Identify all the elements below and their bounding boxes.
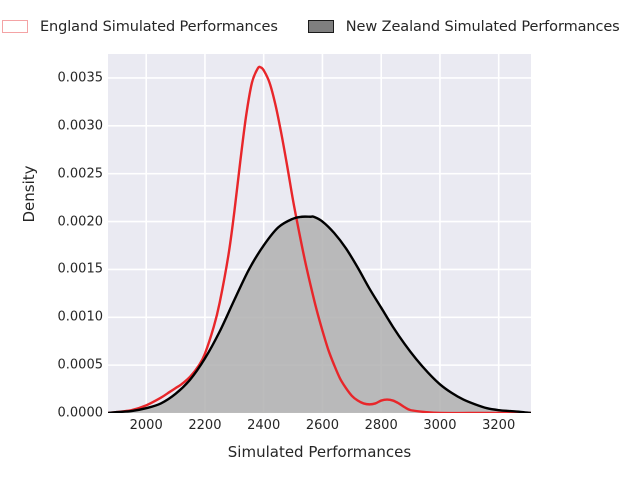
y-tick-label: 0.0030 (23, 118, 103, 133)
y-tick-label: 0.0000 (23, 406, 103, 421)
y-tick-label: 0.0005 (23, 358, 103, 373)
legend-item-newzealand: New Zealand Simulated Performances (308, 13, 620, 39)
plot-area (108, 54, 531, 413)
y-tick-label: 0.0010 (23, 310, 103, 325)
legend-item-england: England Simulated Performances (2, 13, 278, 39)
y-tick-label: 0.0020 (23, 214, 103, 229)
legend-label-england: England Simulated Performances (40, 14, 278, 40)
series-fill-1 (108, 216, 531, 413)
x-axis-label: Simulated Performances (108, 443, 531, 461)
x-tick-label: 3200 (464, 418, 534, 433)
series-fills (108, 216, 531, 413)
legend-swatch-newzealand-icon (308, 20, 334, 33)
y-tick-label: 0.0015 (23, 262, 103, 277)
legend-label-newzealand: New Zealand Simulated Performances (346, 14, 620, 40)
chart-legend: England Simulated Performances New Zeala… (0, 13, 640, 39)
density-plot-svg (108, 54, 531, 413)
y-tick-label: 0.0025 (23, 166, 103, 181)
y-tick-label: 0.0035 (23, 70, 103, 85)
